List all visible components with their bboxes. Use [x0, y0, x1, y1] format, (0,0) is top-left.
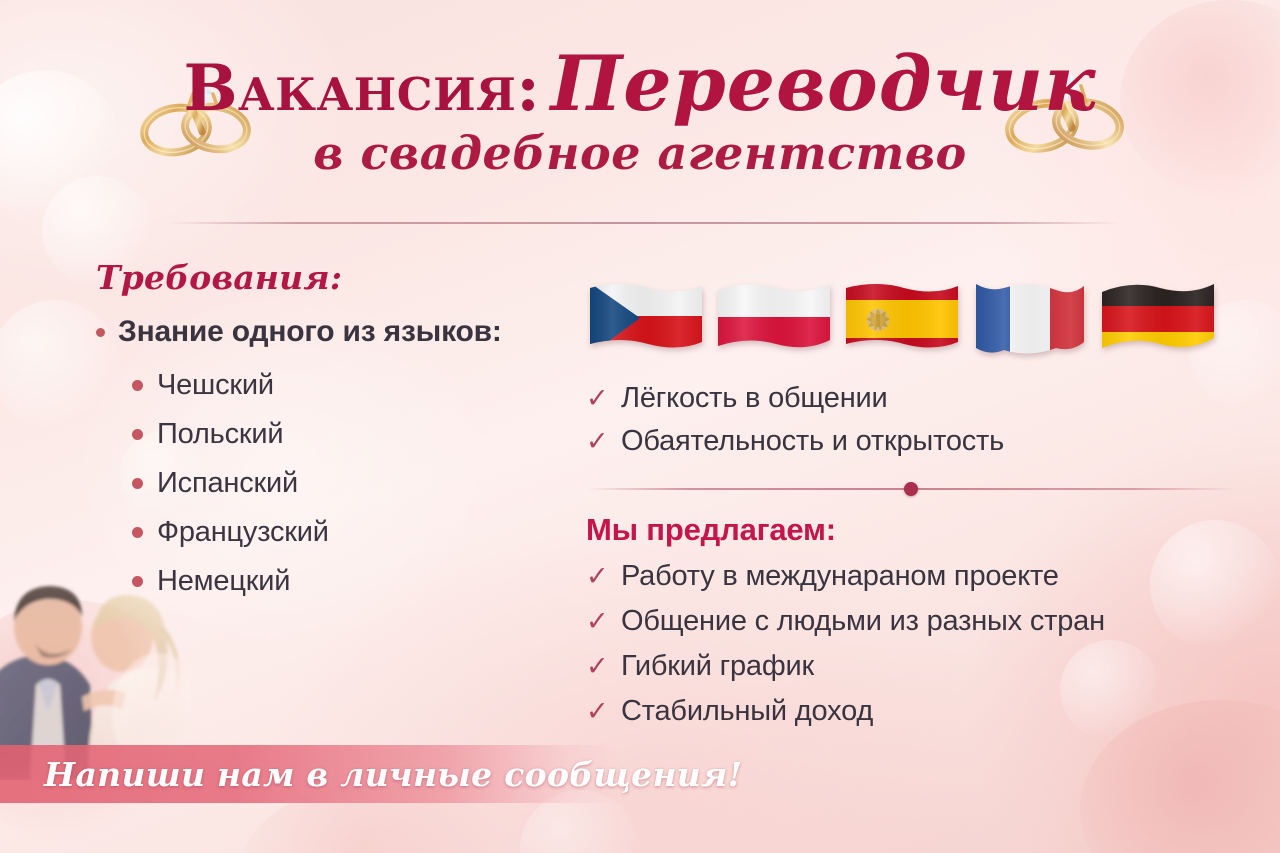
bullet-dot-icon [132, 380, 143, 391]
requirements-heading: Требования: [96, 258, 566, 297]
check-icon: ✓ [586, 430, 610, 454]
offer-label: Работу в междунараном проекте [621, 560, 1059, 593]
language-item-polish: Польский [96, 418, 566, 451]
quality-item: ✓ Лёгкость в общении [586, 382, 1236, 415]
bullet-dot-icon [96, 328, 105, 337]
call-to-action-banner[interactable]: Напиши нам в личные сообщения! [0, 745, 620, 803]
poster-canvas: Вакансия:Переводчик в свадебное агентств… [0, 0, 1280, 853]
quality-label: Обаятельность и открытость [621, 425, 1004, 458]
check-icon: ✓ [586, 655, 610, 679]
france-flag-icon [970, 280, 1090, 358]
title-divider [168, 222, 1120, 224]
title-subtitle: в свадебное агентство [0, 126, 1280, 180]
quality-label: Лёгкость в общении [621, 382, 888, 415]
quality-item: ✓ Обаятельность и открытость [586, 425, 1236, 458]
title-line-1: Вакансия:Переводчик [0, 46, 1280, 122]
divider-dot-icon [904, 482, 918, 496]
section-divider [586, 488, 1236, 490]
czech-flag-icon [586, 280, 706, 358]
offer-item: ✓ Стабильный доход [586, 695, 1236, 728]
language-label: Чешский [157, 369, 274, 402]
bullet-dot-icon [132, 478, 143, 489]
bullet-dot-icon [132, 527, 143, 538]
requirement-main-item: Знание одного из языков: [96, 315, 566, 349]
requirement-main-label: Знание одного из языков: [118, 315, 502, 349]
poster-title: Вакансия:Переводчик в свадебное агентств… [0, 46, 1280, 180]
poland-flag-icon [714, 280, 834, 358]
language-label: Французский [157, 516, 329, 549]
offer-heading: Мы предлагаем: [586, 512, 1236, 548]
language-label: Испанский [157, 467, 298, 500]
check-icon: ✓ [586, 565, 610, 589]
language-label: Немецкий [157, 565, 290, 598]
offer-label: Общение с людьми из разных стран [621, 605, 1105, 638]
check-icon: ✓ [586, 610, 610, 634]
germany-flag-icon [1098, 280, 1218, 358]
title-profession-word: Переводчик [550, 39, 1096, 128]
offer-item: ✓ Общение с людьми из разных стран [586, 605, 1236, 638]
spain-flag-icon [842, 280, 962, 358]
offer-item: ✓ Работу в междунараном проекте [586, 560, 1236, 593]
qualities-list: ✓ Лёгкость в общении ✓ Обаятельность и о… [586, 382, 1236, 458]
language-item-german: Немецкий [96, 565, 566, 598]
bullet-dot-icon [132, 576, 143, 587]
requirements-section: Требования: Знание одного из языков: Чеш… [96, 258, 566, 614]
check-icon: ✓ [586, 700, 610, 724]
offer-label: Стабильный доход [621, 695, 873, 728]
offer-list: ✓ Работу в междунараном проекте ✓ Общени… [586, 560, 1236, 728]
bullet-dot-icon [132, 429, 143, 440]
language-item-spanish: Испанский [96, 467, 566, 500]
call-to-action-text: Напиши нам в личные сообщения! [44, 755, 742, 794]
flags-row [586, 280, 1236, 372]
title-vacancy-word: Вакансия: [183, 51, 540, 126]
language-item-french: Французский [96, 516, 566, 549]
offer-label: Гибкий график [621, 650, 814, 683]
check-icon: ✓ [586, 387, 610, 411]
offer-section: ✓ Лёгкость в общении ✓ Обаятельность и о… [586, 280, 1236, 728]
offer-item: ✓ Гибкий график [586, 650, 1236, 683]
blush-decor [0, 600, 200, 840]
language-item-czech: Чешский [96, 369, 566, 402]
language-label: Польский [157, 418, 283, 451]
